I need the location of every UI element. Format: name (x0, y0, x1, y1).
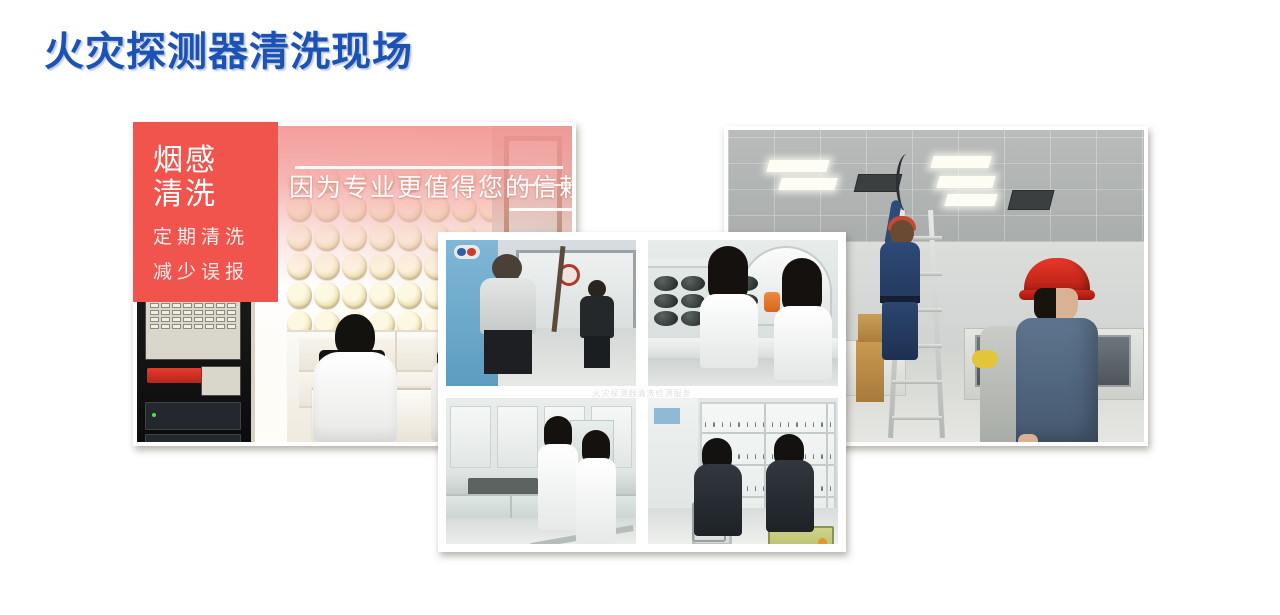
fire-alarm-equipment-rack (137, 292, 255, 442)
ladder-rung (892, 416, 942, 420)
rack-module (145, 402, 241, 430)
worker-person (576, 280, 616, 366)
worker-on-ladder (872, 194, 926, 364)
shelved-detectors (705, 420, 831, 428)
banner-subline-2: 减少误报 (153, 257, 278, 284)
ceiling-light (930, 156, 991, 168)
ceiling-light (936, 176, 995, 188)
rack-label-panel (201, 366, 241, 396)
smoke-detector (397, 282, 422, 309)
ceiling-air-vent (1008, 190, 1055, 210)
orange-tool (764, 292, 780, 312)
shelf-board (702, 432, 834, 434)
collage-inner: 火灾探测器清洗检测服务 (444, 238, 840, 546)
collage-quadrant-testing-shelves (648, 398, 838, 544)
slogan-rule (509, 208, 572, 211)
worker-hair (1034, 288, 1056, 320)
banner-subline-1: 定期清洗 (153, 222, 278, 249)
rack-keypad-panel (145, 298, 241, 360)
ceiling-light (766, 160, 829, 172)
worker-torso (880, 242, 920, 304)
collage-quadrant-grid (444, 238, 840, 546)
worker-hand (1018, 434, 1038, 442)
lab-collage-card: 火灾探测器清洗检测服务 (438, 232, 846, 552)
ceiling-light (944, 194, 997, 206)
smoke-detector (342, 282, 367, 309)
smoke-detector (287, 282, 312, 309)
overlay-slogan-text: 因为专业更值得您的信赖 (289, 168, 572, 204)
smoke-detector (314, 282, 339, 309)
promo-red-banner: 烟感 清洗 定期清洗 减少误报 (133, 122, 278, 302)
collage-quadrant-cleaning-bench (648, 240, 838, 386)
worker-legs (882, 302, 918, 360)
foreground-worker-red-helmet (1014, 258, 1098, 442)
collage-quadrant-inspection (446, 240, 636, 386)
yellow-equipment (972, 350, 998, 368)
banner-headline: 烟感 清洗 (153, 144, 278, 211)
ceiling-air-vent (854, 174, 902, 192)
worker-torso (1016, 318, 1098, 442)
page-title: 火灾探测器清洗现场 (44, 32, 413, 72)
rack-module (145, 434, 241, 442)
ladder-rail (928, 210, 945, 438)
technician-left (313, 314, 397, 442)
page-root: 火灾探测器清洗现场 (0, 0, 1280, 615)
collage-quadrant-wash-station (446, 398, 636, 544)
rack-button-grid (150, 303, 236, 329)
technician-body (313, 352, 397, 442)
inspector-person (474, 254, 538, 372)
ceiling-light (778, 178, 837, 190)
ladder-rung (892, 380, 942, 384)
smoke-detector (369, 282, 394, 309)
